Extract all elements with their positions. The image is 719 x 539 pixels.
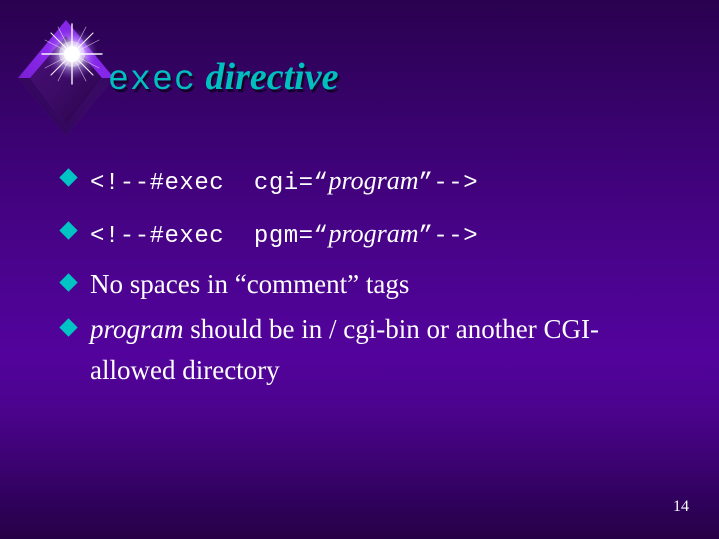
text-emphasis: program [90,314,184,344]
list-item: <!--#exec pgm=“program”--> [58,211,678,260]
logo-diamond-outer [18,20,114,136]
list-item: <!--#exec cgi=“program”--> [58,158,678,207]
diamond-bullet-icon [59,273,77,291]
list-item: No spaces in “comment” tags [58,264,678,305]
code-segment: ”--> [419,223,479,250]
list-item-text: No spaces in “comment” tags [90,269,409,299]
logo-starburst [42,24,102,84]
diamond-starburst-logo [14,14,118,142]
logo-diamond-shadow [18,78,114,136]
title-mono-part: exec [108,60,196,100]
code-emphasis: program [328,166,418,195]
code-emphasis: program [328,219,418,248]
list-item-text: program should be in / cgi-bin or anothe… [90,314,599,385]
diamond-bullet-icon [59,221,77,239]
title-italic-part: directive [196,56,338,98]
diamond-bullet-icon [59,318,77,336]
page-title: exec directive [108,58,688,98]
code-segment: <!--#exec cgi=“ [90,170,328,197]
code-segment: ”--> [419,170,479,197]
diamond-bullet-icon [59,168,77,186]
slide: exec directive <!--#exec cgi=“program”--… [0,0,719,539]
logo-diamond-inner [30,36,102,126]
page-number: 14 [673,498,689,516]
list-item-text: <!--#exec cgi=“program”--> [90,170,478,197]
list-item-text: <!--#exec pgm=“program”--> [90,223,478,250]
list-item: program should be in / cgi-bin or anothe… [58,309,678,391]
bullet-list: <!--#exec cgi=“program”--> <!--#exec pgm… [58,158,678,395]
code-segment: <!--#exec pgm=“ [90,223,328,250]
text-segment: No spaces in “comment” tags [90,269,409,299]
